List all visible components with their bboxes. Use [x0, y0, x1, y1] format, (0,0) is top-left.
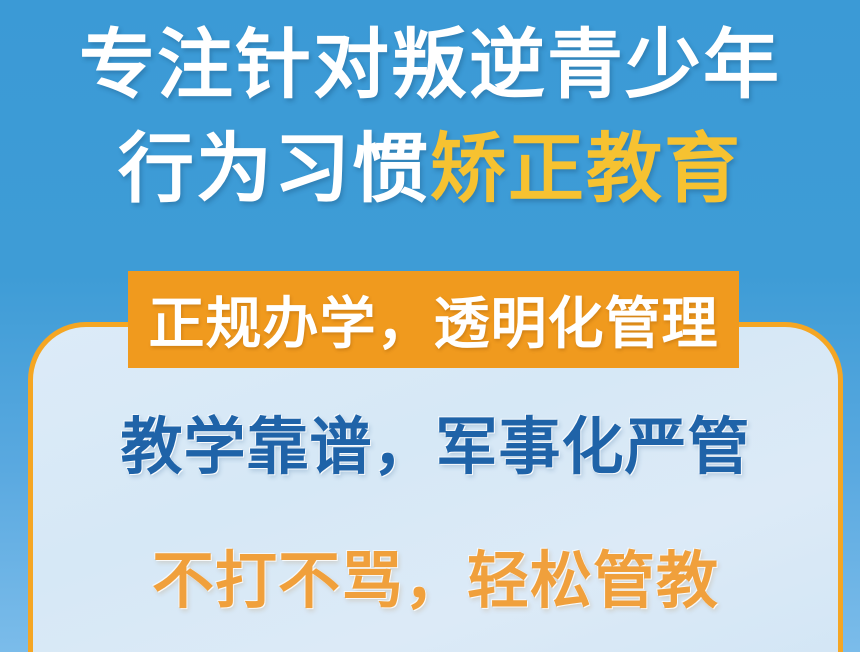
card-line-teaching: 教学靠谱，军事化严管	[28, 396, 843, 486]
promo-poster: 专注针对叛逆青少年 行为习惯矫正教育 正规办学，透明化管理 教学靠谱，军事化严管…	[0, 0, 860, 652]
highlight-banner: 正规办学，透明化管理	[128, 271, 739, 368]
headline-line-2: 行为习惯矫正教育	[0, 122, 860, 218]
headline-line-2-white-part: 行为习惯	[118, 127, 430, 212]
highlight-banner-text: 正规办学，透明化管理	[149, 279, 719, 360]
card-text-block: 教学靠谱，军事化严管 不打不骂，轻松管教	[28, 378, 843, 620]
headline-block: 专注针对叛逆青少年 行为习惯矫正教育	[0, 18, 860, 218]
card-line-discipline: 不打不骂，轻松管教	[28, 530, 843, 620]
headline-line-2-yellow-part: 矫正教育	[430, 127, 742, 212]
headline-line-1: 专注针对叛逆青少年	[0, 18, 860, 114]
